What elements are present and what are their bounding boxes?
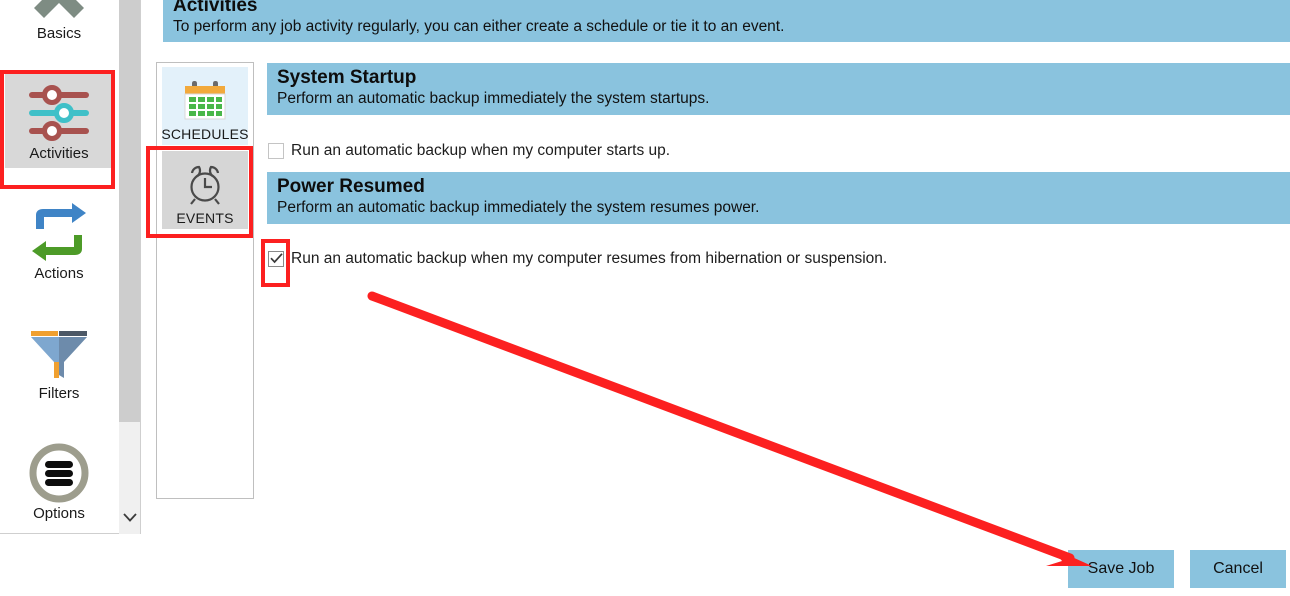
- sidebar-item-label: Options: [33, 504, 85, 524]
- page-title: Activities: [173, 0, 1280, 17]
- sidebar-item-filters[interactable]: Filters: [5, 312, 113, 408]
- section-title: Power Resumed: [277, 176, 1280, 198]
- sidebar-item-basics[interactable]: Basics: [5, 0, 113, 48]
- section-subtitle: Perform an automatic backup immediately …: [277, 198, 1280, 218]
- checkmark-icon: [270, 253, 283, 264]
- navigation-sidebar: Basics Activities: [0, 0, 141, 534]
- job-settings-dialog: Basics Activities: [0, 0, 1290, 596]
- page-header-banner: Activities To perform any job activity r…: [163, 0, 1290, 42]
- cancel-button[interactable]: Cancel: [1190, 550, 1286, 588]
- sliders-icon: [26, 82, 92, 144]
- chevron-down-icon[interactable]: [119, 500, 140, 534]
- sidebar-item-activities[interactable]: Activities: [5, 72, 113, 168]
- cross-icon: [30, 0, 88, 24]
- section-header-system-startup: System Startup Perform an automatic back…: [267, 63, 1290, 115]
- power-resumed-checkbox[interactable]: [268, 251, 284, 267]
- sidebar-item-actions[interactable]: Actions: [5, 192, 113, 288]
- startup-checkbox-row[interactable]: Run an automatic backup when my computer…: [268, 141, 670, 160]
- sidebar-item-label: Actions: [34, 264, 83, 284]
- sidebar-item-label: Basics: [37, 24, 81, 44]
- sidebar-list: Basics Activities: [0, 0, 118, 534]
- calendar-icon: [182, 76, 228, 126]
- tab-events[interactable]: EVENTS: [162, 151, 248, 229]
- tab-label: SCHEDULES: [161, 126, 248, 142]
- startup-checkbox[interactable]: [268, 143, 284, 159]
- tab-schedules[interactable]: SCHEDULES: [162, 67, 248, 145]
- section-subtitle: Perform an automatic backup immediately …: [277, 89, 1280, 109]
- loop-arrows-icon: [28, 202, 90, 264]
- activity-type-tabstrip: SCHEDULES EVENTS: [156, 62, 254, 499]
- tab-label: EVENTS: [176, 210, 233, 226]
- section-header-power-resumed: Power Resumed Perform an automatic backu…: [267, 172, 1290, 224]
- power-resumed-checkbox-row[interactable]: Run an automatic backup when my computer…: [268, 249, 887, 268]
- section-title: System Startup: [277, 67, 1280, 89]
- sidebar-item-label: Filters: [39, 384, 80, 404]
- sidebar-item-options[interactable]: Options: [5, 432, 113, 528]
- save-job-button[interactable]: Save Job: [1068, 550, 1174, 588]
- power-resumed-checkbox-label: Run an automatic backup when my computer…: [291, 249, 887, 268]
- options-circle-icon: [28, 442, 90, 504]
- page-subtitle: To perform any job activity regularly, y…: [173, 17, 1280, 37]
- sidebar-scrollbar-thumb[interactable]: [119, 0, 140, 422]
- sidebar-item-label: Activities: [29, 144, 88, 164]
- funnel-icon: [26, 322, 92, 384]
- startup-checkbox-label: Run an automatic backup when my computer…: [291, 141, 670, 160]
- alarm-clock-icon: [183, 160, 227, 210]
